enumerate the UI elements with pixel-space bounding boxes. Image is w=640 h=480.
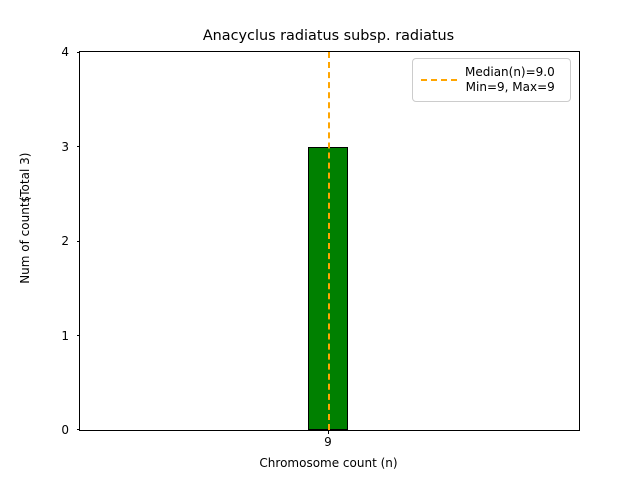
xtick-mark-9 <box>328 430 329 434</box>
page-title: Anacyclus radiatus subsp. radiatus <box>0 28 640 45</box>
figure-canvas: Anacyclus radiatus subsp. radiatus 0 1 2… <box>0 0 640 480</box>
x-axis-label: Chromosome count (n) <box>79 456 578 470</box>
legend-item-median: Median(n)=9.0 Min=9, Max=9 <box>421 65 562 95</box>
median-line <box>328 52 330 430</box>
legend: Median(n)=9.0 Min=9, Max=9 <box>412 58 571 102</box>
xtick-label-9: 9 <box>288 436 368 448</box>
dashed-line-icon <box>421 73 457 87</box>
legend-item-label: Median(n)=9.0 Min=9, Max=9 <box>465 65 555 95</box>
legend-minmax-text: Min=9, Max=9 <box>465 80 555 95</box>
ytick-label-0: 0 <box>9 424 69 436</box>
y-axis-label-total: (Total 3) <box>18 97 32 257</box>
legend-median-text: Median(n)=9.0 <box>465 65 555 79</box>
ytick-label-4: 4 <box>9 46 69 58</box>
plot-area <box>79 51 580 431</box>
plot-inner <box>80 52 579 430</box>
ytick-label-1: 1 <box>9 330 69 342</box>
